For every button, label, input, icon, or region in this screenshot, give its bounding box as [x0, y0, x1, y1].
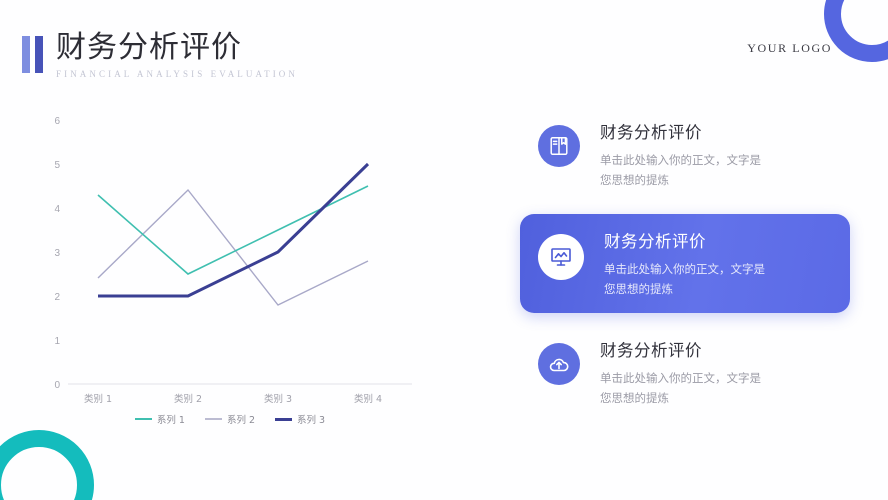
x-tick-1: 类别 2	[174, 393, 202, 405]
legend-label-series-3: 系列 3	[297, 412, 325, 426]
title-block: 财务分析评价 FINANCIAL ANALYSIS EVALUATION	[56, 30, 298, 79]
feature-card-1-body-line2: 您思想的提炼	[600, 173, 669, 187]
legend-label-series-2: 系列 2	[227, 412, 255, 426]
x-tick-2: 类别 3	[264, 393, 292, 405]
page-title: 财务分析评价	[56, 30, 298, 66]
svg-text:4: 4	[54, 204, 60, 215]
logo-bar-light	[22, 36, 30, 73]
svg-text:6: 6	[54, 116, 60, 127]
chart-legend: 系列 1 系列 2 系列 3	[30, 412, 430, 426]
x-axis-ticks: 类别 1 类别 2 类别 3 类别 4	[84, 393, 382, 405]
feature-card-3-title: 财务分析评价	[600, 339, 834, 363]
slide-canvas: 财务分析评价 FINANCIAL ANALYSIS EVALUATION YOU…	[0, 0, 888, 500]
feature-card-2-title: 财务分析评价	[604, 230, 834, 254]
legend-swatch-series-3	[275, 418, 292, 421]
feature-card-3[interactable]: 财务分析评价 单击此处输入你的正文，文字是 您思想的提炼	[520, 323, 850, 422]
svg-text:5: 5	[54, 160, 60, 171]
chart-svg: 6 5 4 3 2 1 0 类别 1 类别 2 类别 3 类别 4	[30, 110, 430, 410]
feature-card-2-body: 单击此处输入你的正文，文字是 您思想的提炼	[604, 259, 814, 299]
decorative-ring-bottom-left	[0, 430, 94, 500]
cloud-upload-icon	[538, 343, 580, 385]
series-1-line	[98, 186, 368, 274]
svg-text:3: 3	[54, 248, 60, 259]
line-chart: 6 5 4 3 2 1 0 类别 1 类别 2 类别 3 类别 4	[30, 110, 430, 440]
feature-card-list: 财务分析评价 单击此处输入你的正文，文字是 您思想的提炼 财务分析评价	[520, 105, 850, 432]
page-subtitle: FINANCIAL ANALYSIS EVALUATION	[56, 69, 298, 79]
feature-card-2[interactable]: 财务分析评价 单击此处输入你的正文，文字是 您思想的提炼	[520, 214, 850, 313]
slide-header: 财务分析评价 FINANCIAL ANALYSIS EVALUATION	[22, 30, 298, 79]
feature-card-1-body-line1: 单击此处输入你的正文，文字是	[600, 153, 761, 167]
x-tick-0: 类别 1	[84, 393, 112, 405]
svg-text:2: 2	[54, 292, 60, 303]
feature-card-1-body: 单击此处输入你的正文，文字是 您思想的提炼	[600, 150, 810, 190]
feature-card-3-text: 财务分析评价 单击此处输入你的正文，文字是 您思想的提炼	[600, 337, 834, 408]
feature-card-3-body-line1: 单击此处输入你的正文，文字是	[600, 371, 761, 385]
decorative-ring-top-right	[824, 0, 888, 62]
x-tick-3: 类别 4	[354, 393, 382, 405]
logo-bar-dark	[35, 36, 43, 73]
feature-card-1-text: 财务分析评价 单击此处输入你的正文，文字是 您思想的提炼	[600, 119, 834, 190]
legend-item-series-3: 系列 3	[275, 412, 325, 426]
brand-logo-text: YOUR LOGO	[747, 41, 832, 56]
feature-card-3-body: 单击此处输入你的正文，文字是 您思想的提炼	[600, 368, 810, 408]
svg-text:1: 1	[54, 336, 60, 347]
feature-card-3-body-line2: 您思想的提炼	[600, 391, 669, 405]
feature-card-1-title: 财务分析评价	[600, 121, 834, 145]
legend-item-series-2: 系列 2	[205, 412, 255, 426]
legend-swatch-series-2	[205, 418, 222, 420]
book-icon	[538, 125, 580, 167]
series-2-line	[98, 190, 368, 305]
legend-label-series-1: 系列 1	[157, 412, 185, 426]
feature-card-2-body-line2: 您思想的提炼	[604, 282, 673, 296]
feature-card-2-text: 财务分析评价 单击此处输入你的正文，文字是 您思想的提炼	[604, 228, 834, 299]
feature-card-2-body-line1: 单击此处输入你的正文，文字是	[604, 262, 765, 276]
y-axis-ticks: 6 5 4 3 2 1 0	[54, 116, 60, 391]
legend-swatch-series-1	[135, 418, 152, 420]
logo-bars-icon	[22, 36, 43, 73]
svg-text:0: 0	[54, 380, 60, 391]
feature-card-1[interactable]: 财务分析评价 单击此处输入你的正文，文字是 您思想的提炼	[520, 105, 850, 204]
presentation-chart-icon	[538, 234, 584, 280]
legend-item-series-1: 系列 1	[135, 412, 185, 426]
